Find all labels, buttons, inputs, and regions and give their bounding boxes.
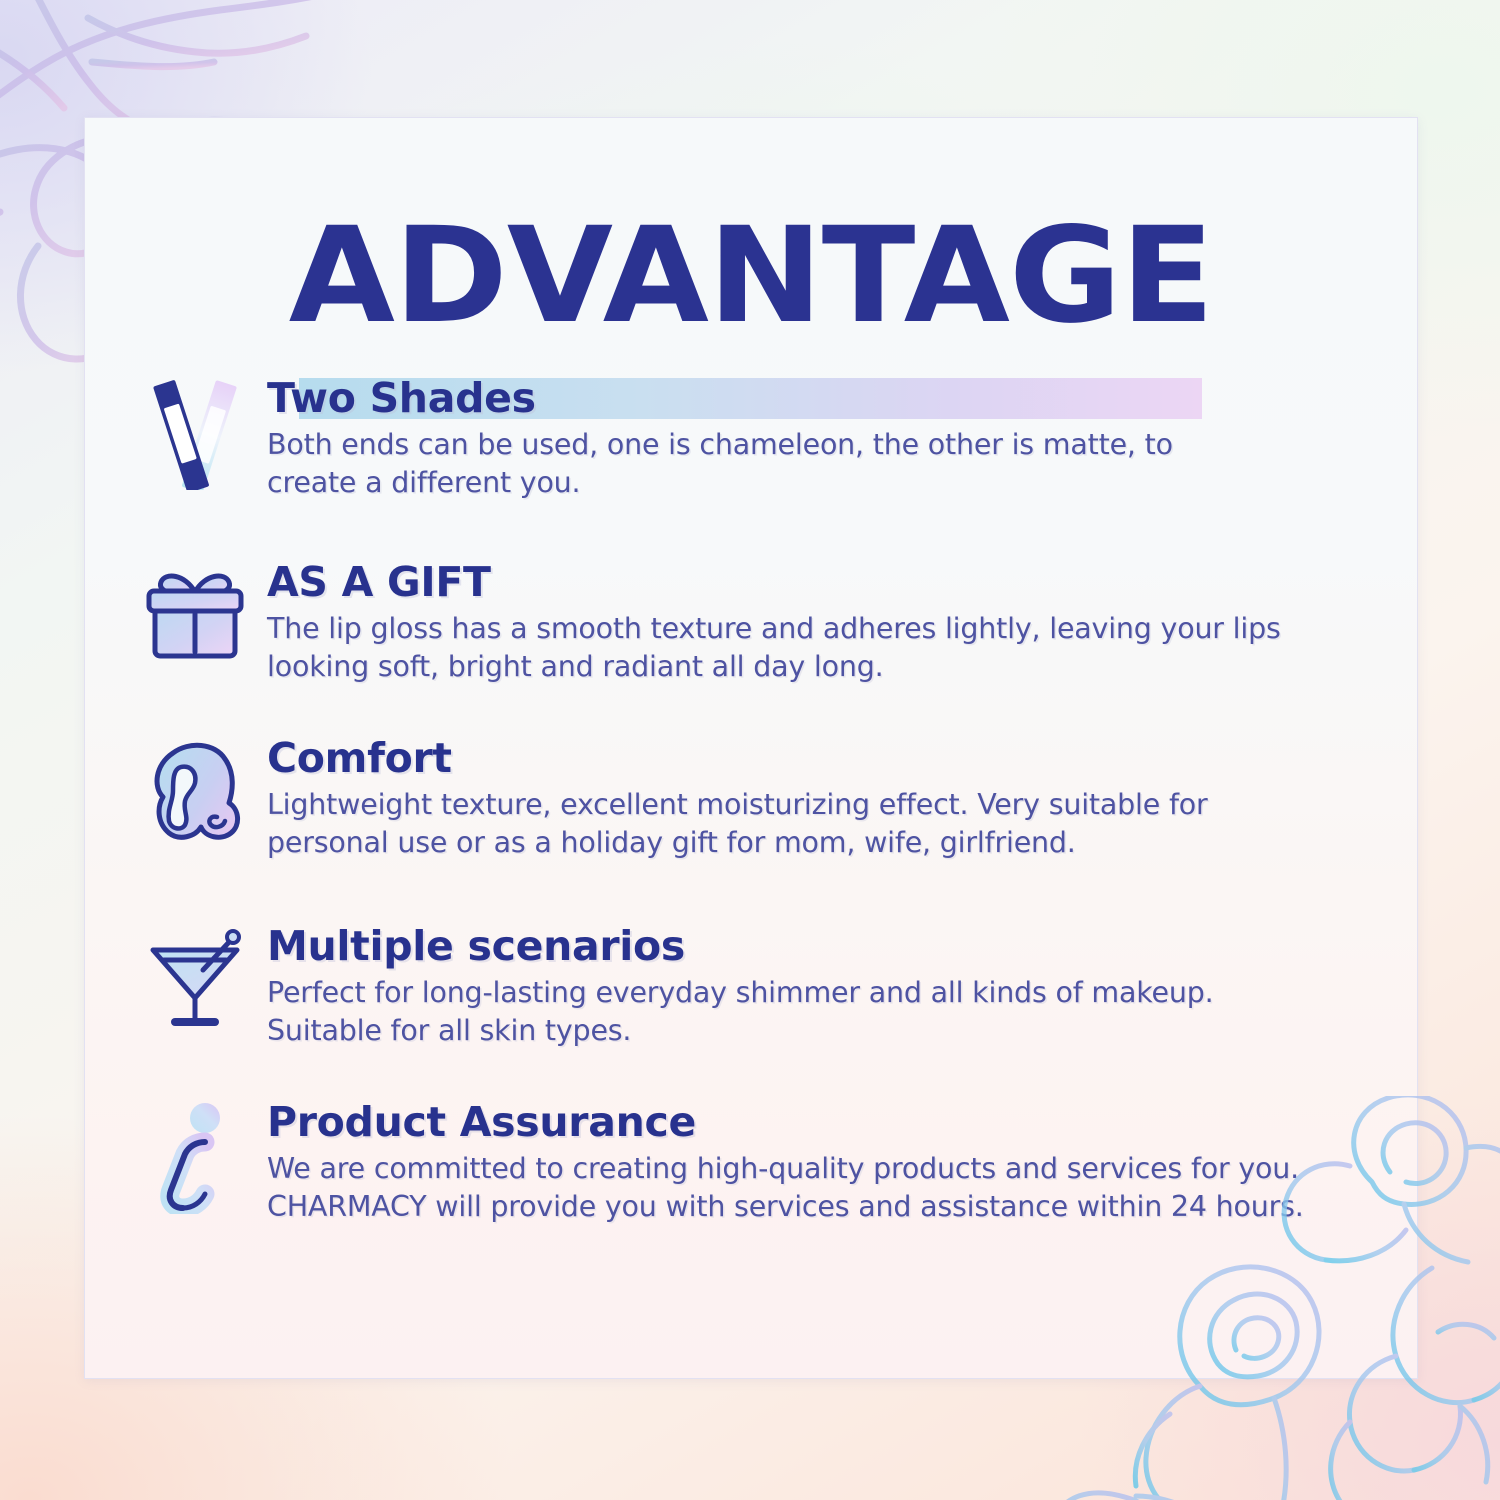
feature-text: Perfect for long-lasting everyday shimme… bbox=[267, 974, 1381, 1050]
feature-item-product-assurance: Product Assurance We are committed to cr… bbox=[131, 1094, 1381, 1226]
advantage-card: ADVANTAGE bbox=[84, 117, 1418, 1379]
feature-item-comfort: Comfort Lightweight texture, excellent m… bbox=[131, 730, 1381, 862]
two-lipstick-tubes-icon bbox=[131, 370, 259, 494]
feature-title: Product Assurance bbox=[267, 1098, 1381, 1146]
feature-title: Comfort bbox=[267, 734, 1381, 782]
woman-hair-icon bbox=[131, 730, 259, 854]
feature-body: Product Assurance We are committed to cr… bbox=[267, 1094, 1381, 1226]
feature-body: Comfort Lightweight texture, excellent m… bbox=[267, 730, 1381, 862]
feature-body: Two Shades Both ends can be used, one is… bbox=[267, 370, 1381, 502]
gift-box-icon bbox=[131, 554, 259, 678]
page-title: ADVANTAGE bbox=[58, 210, 1443, 342]
feature-text: Both ends can be used, one is chameleon,… bbox=[267, 426, 1381, 502]
feature-title: Two Shades bbox=[267, 374, 1381, 422]
feature-title: AS A GIFT bbox=[267, 558, 1381, 606]
feature-body: Multiple scenarios Perfect for long-last… bbox=[267, 918, 1381, 1050]
title-block: ADVANTAGE bbox=[85, 210, 1417, 340]
info-italic-i-icon bbox=[131, 1094, 259, 1218]
cocktail-glass-icon bbox=[131, 918, 259, 1042]
feature-item-as-a-gift: AS A GIFT The lip gloss has a smooth tex… bbox=[131, 554, 1381, 686]
feature-title: Multiple scenarios bbox=[267, 922, 1381, 970]
poster-canvas: ADVANTAGE bbox=[0, 0, 1500, 1500]
feature-text: We are committed to creating high-qualit… bbox=[267, 1150, 1381, 1226]
feature-body: AS A GIFT The lip gloss has a smooth tex… bbox=[267, 554, 1381, 686]
feature-text: Lightweight texture, excellent moisturiz… bbox=[267, 786, 1381, 862]
feature-list: Two Shades Both ends can be used, one is… bbox=[131, 370, 1381, 1226]
feature-text: The lip gloss has a smooth texture and a… bbox=[267, 610, 1381, 686]
feature-item-multiple-scenarios: Multiple scenarios Perfect for long-last… bbox=[131, 918, 1381, 1050]
feature-item-two-shades: Two Shades Both ends can be used, one is… bbox=[131, 370, 1381, 502]
